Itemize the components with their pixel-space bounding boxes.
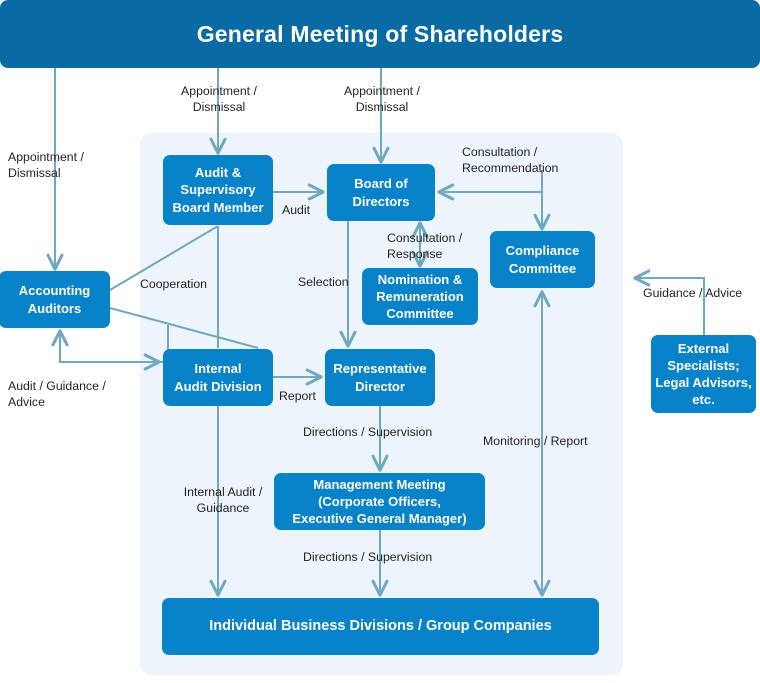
node-audit-supervisory-board-member[interactable]: Audit & Supervisory Board Member <box>163 155 273 225</box>
node-accounting-auditors[interactable]: Accounting Auditors <box>0 271 110 328</box>
node-board-of-directors[interactable]: Board of Directors <box>327 164 435 221</box>
label-consultation-recommendation: Consultation / Recommendation <box>462 145 622 177</box>
label-directions-supervision-top: Directions / Supervision <box>303 425 473 441</box>
node-external-specialists[interactable]: External Specialists; Legal Advisors, et… <box>651 335 756 413</box>
label-guidance-advice: Guidance / Advice <box>643 286 760 302</box>
label-cooperation: Cooperation <box>140 277 250 293</box>
label-monitoring-report: Monitoring / Report <box>483 434 613 450</box>
header-general-meeting-of-shareholders: General Meeting of Shareholders <box>0 0 760 68</box>
label-directions-supervision-bottom: Directions / Supervision <box>303 550 473 566</box>
label-audit-guidance-advice: Audit / Guidance / Advice <box>8 379 148 411</box>
page-title: General Meeting of Shareholders <box>197 21 564 48</box>
label-consultation-response: Consultation / Response <box>387 231 497 263</box>
node-compliance-committee[interactable]: Compliance Committee <box>490 231 595 288</box>
label-appointment-dismissal-board: Appointment / Dismissal <box>318 84 446 116</box>
node-management-meeting[interactable]: Management Meeting (Corporate Officers, … <box>274 473 485 530</box>
node-internal-audit-division[interactable]: Internal Audit Division <box>163 349 273 406</box>
label-audit: Audit <box>282 203 332 219</box>
node-nomination-remuneration-committee[interactable]: Nomination & Remuneration Committee <box>362 268 478 325</box>
governance-diagram: General Meeting of Shareholders <box>0 0 760 683</box>
node-individual-business-divisions[interactable]: Individual Business Divisions / Group Co… <box>162 598 599 655</box>
label-appointment-dismissal-audit: Appointment / Dismissal <box>155 84 283 116</box>
label-internal-audit-guidance: Internal Audit / Guidance <box>163 485 283 517</box>
label-appointment-dismissal-left: Appointment / Dismissal <box>8 150 138 182</box>
node-representative-director[interactable]: Representative Director <box>325 349 435 406</box>
